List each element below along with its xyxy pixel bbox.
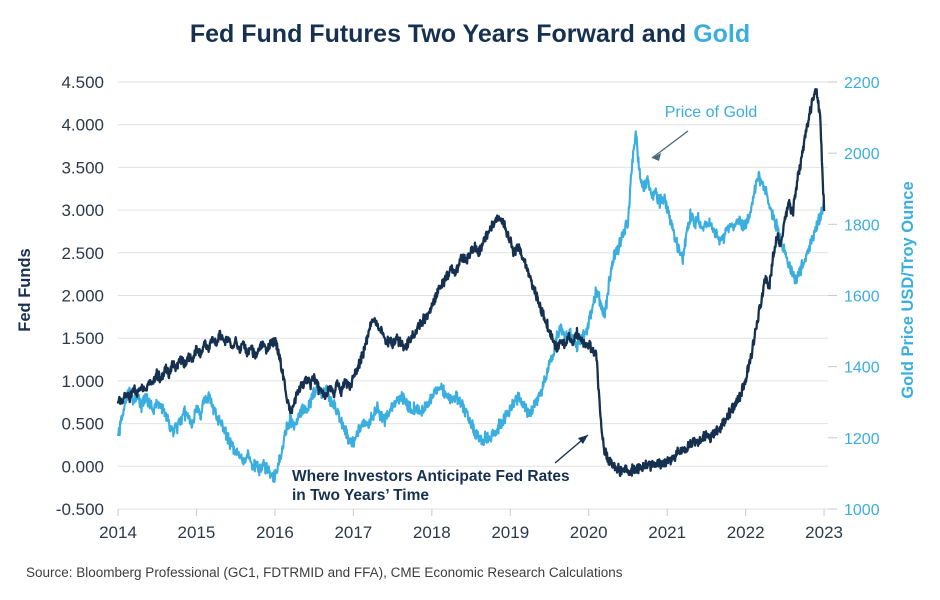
left-tick-label: 3.000 [61,201,104,220]
x-tick-label: 2020 [570,523,608,542]
left-tick-label: -0.500 [56,500,104,519]
gold-annotation-label: Price of Gold [665,104,757,121]
left-axis-label: Fed Funds [16,248,34,331]
right-axis-label: Gold Price USD/Troy Ounce [899,181,917,398]
x-tick-label: 2015 [178,523,216,542]
left-tick-label: 1.000 [61,372,104,391]
x-tick-label: 2017 [334,523,372,542]
left-tick-label: 4.000 [61,116,104,135]
x-tick-label: 2016 [256,523,294,542]
right-tick-label: 2200 [844,75,880,92]
page-title-main: Fed Fund Futures Two Years Forward and [190,20,693,48]
left-tick-label: 2.500 [61,244,104,263]
left-tick-label: 0.000 [61,457,104,476]
x-tick-label: 2018 [413,523,451,542]
left-tick-label: 0.500 [61,415,104,434]
fed-annotation-label-line2: in Two Years’ Time [292,487,429,504]
fed-funds-gold-chart: Fed Fund Futures Two Years Forward and G… [0,0,940,600]
left-tick-label: 1.500 [61,329,104,348]
x-tick-label: 2021 [648,523,686,542]
right-tick-label: 1200 [844,431,880,448]
source-note: Source: Bloomberg Professional (GC1, FDT… [26,565,623,580]
page-title-gold: Gold [693,20,750,48]
right-tick-label: 1000 [844,502,880,519]
right-tick-label: 1400 [844,360,880,377]
left-tick-label: 3.500 [61,158,104,177]
chart-container: Fed Fund Futures Two Years Forward and G… [0,0,940,600]
left-tick-label: 2.000 [61,287,104,306]
right-tick-label: 1600 [844,289,880,306]
page-title: Fed Fund Futures Two Years Forward and G… [190,20,750,48]
right-tick-label: 1800 [844,217,880,234]
chart-background [0,0,940,600]
fed-annotation-label-line1: Where Investors Anticipate Fed Rates [292,468,570,485]
x-tick-label: 2014 [99,523,137,542]
left-tick-label: 4.500 [61,73,104,92]
right-tick-label: 2000 [844,146,880,163]
x-tick-label: 2022 [727,523,765,542]
x-tick-label: 2019 [491,523,529,542]
x-tick-label: 2023 [805,523,843,542]
